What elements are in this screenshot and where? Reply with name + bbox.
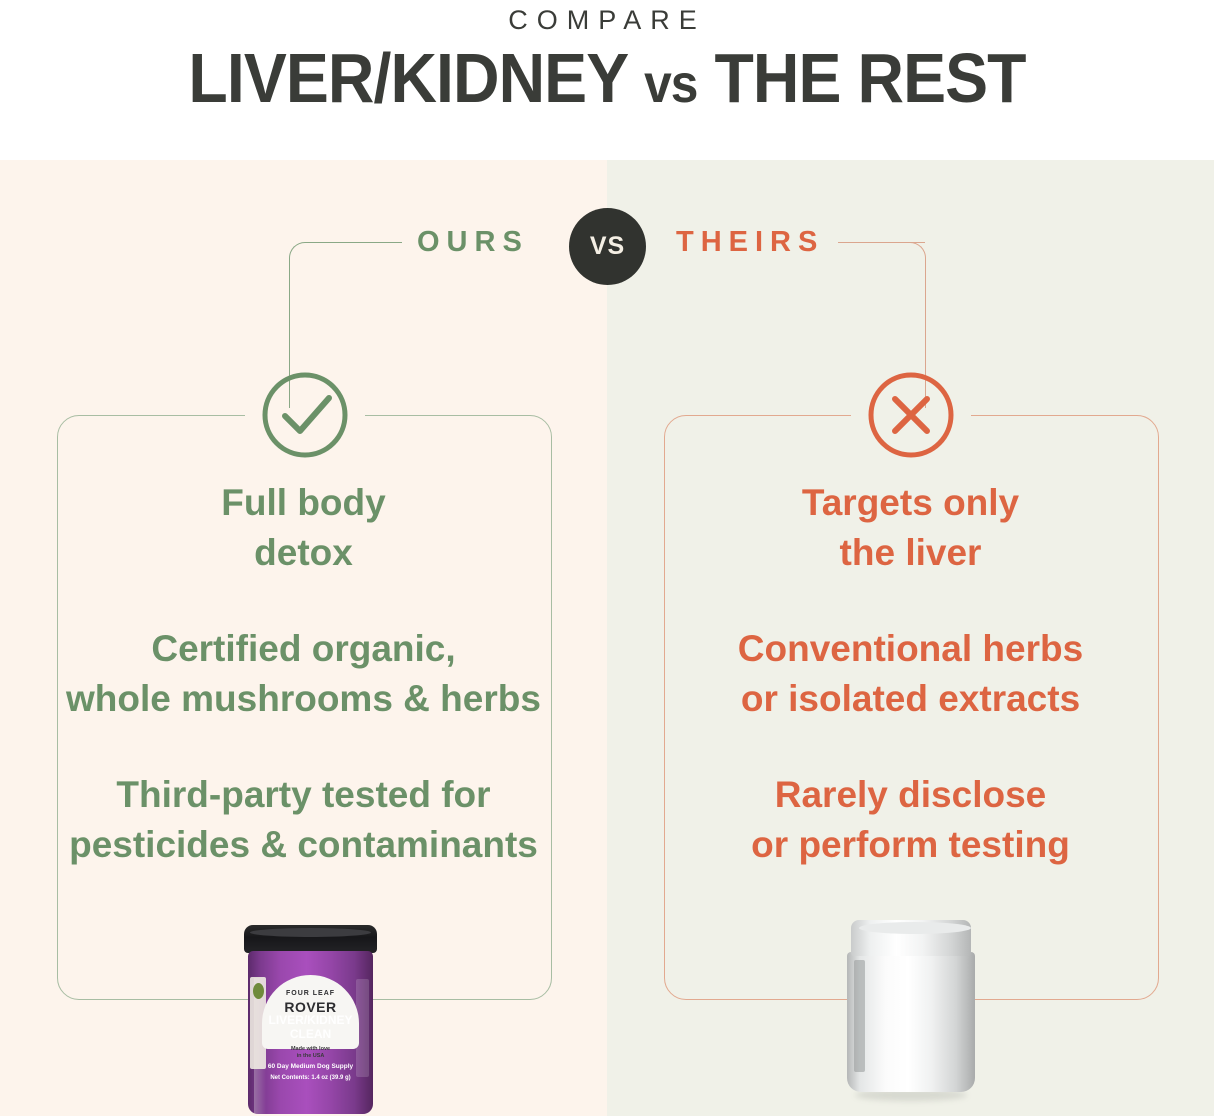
theirs-feature-1: Targets only the liver [664,478,1157,578]
ours-connector-horizontal [305,242,402,243]
headline-vs: vs [644,54,697,114]
generic-jar-body [847,952,975,1092]
jar-supply-text: 60 Day Medium Dog Supply [253,1063,368,1070]
headline-part1: LIVER/KIDNEY [188,39,644,117]
ours-feature-list: Full body detox Certified organic, whole… [57,478,550,870]
theirs-feature-list: Targets only the liver Conventional herb… [664,478,1157,870]
theirs-feature-3: Rarely disclose or perform testing [664,770,1157,870]
theirs-product-jar [847,920,975,1095]
generic-jar-label-edge [854,960,865,1072]
comparison-panels: OURS THEIRS VS Full body detox Certified… [0,160,1214,1116]
page-header: COMPARE LIVER/KIDNEY vs THE REST [0,0,1214,160]
ours-product-jar: FOUR LEAF ROVER LIVER/KIDNEY CLEAN Made … [243,925,378,1116]
ours-feature-3: Third-party tested for pesticides & cont… [57,770,550,870]
theirs-feature-2: Conventional herbs or isolated extracts [664,624,1157,724]
jar-made-in-text: Made with love in the USA [262,1046,359,1060]
generic-jar-lid [851,920,971,956]
jar-net-contents: Net Contents: 1.4 oz (39.9 g) [253,1075,368,1081]
jar-body: FOUR LEAF ROVER LIVER/KIDNEY CLEAN Made … [248,951,373,1114]
ours-feature-1: Full body detox [57,478,550,578]
eyebrow-label: COMPARE [0,0,1214,36]
vs-badge: VS [569,208,646,285]
jar-product-title: LIVER/KIDNEY CLEAN [258,1014,363,1042]
headline-part2: THE REST [698,39,1026,117]
ours-feature-2: Certified organic, whole mushrooms & her… [57,624,550,724]
page-title: LIVER/KIDNEY vs THE REST [49,36,1166,119]
jar-brand-top: FOUR LEAF [262,990,359,997]
jar-lid [244,925,377,953]
x-circle-icon [864,368,958,462]
ours-column-label: OURS [417,228,529,257]
generic-jar-lid-rim [859,922,971,934]
jar-lid-rim [250,928,371,937]
theirs-column-label: THEIRS [676,228,824,257]
check-circle-icon [258,368,352,462]
